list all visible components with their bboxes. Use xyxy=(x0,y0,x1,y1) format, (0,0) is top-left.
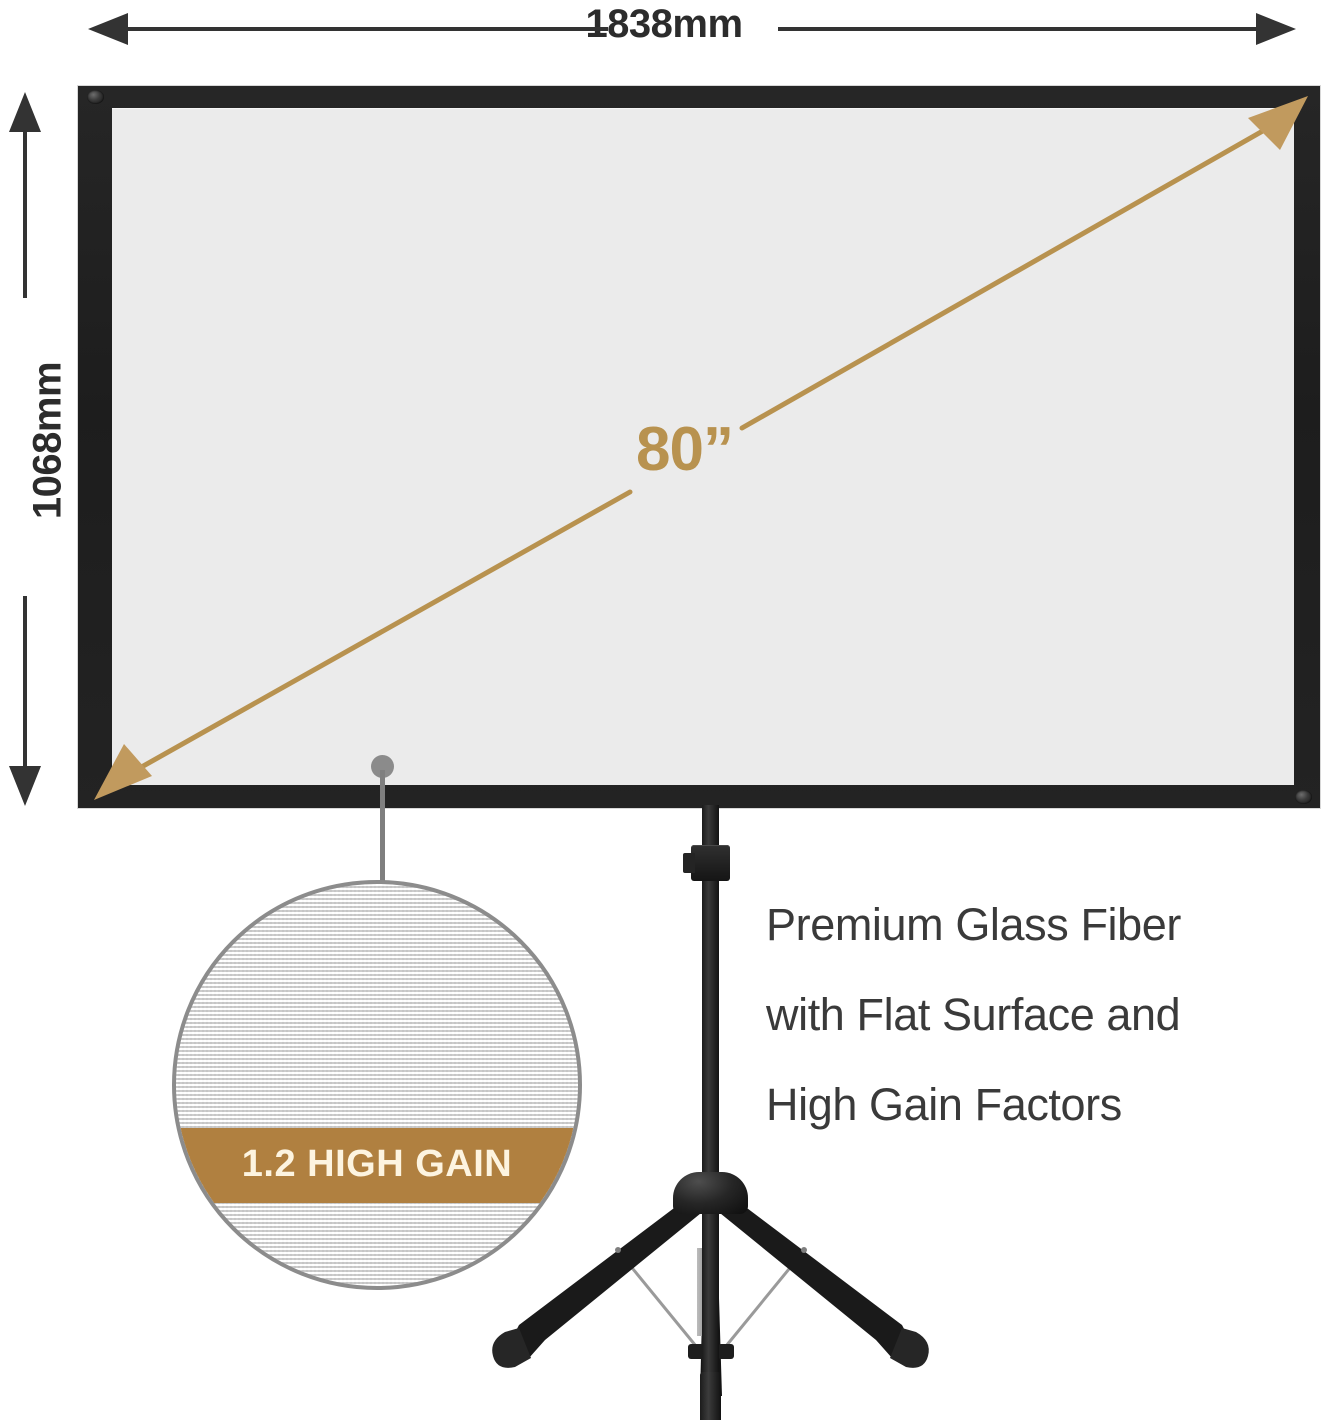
tripod-legs xyxy=(0,0,1328,1420)
feature-line-2: with Flat Surface and xyxy=(766,970,1322,1060)
clamp-knob-icon xyxy=(683,853,695,873)
tripod-stand xyxy=(0,0,1328,1420)
product-dimension-diagram: 1838mm 1068mm 80” 1.2 HIGH xyxy=(0,0,1328,1420)
feature-line-3: High Gain Factors xyxy=(766,1060,1322,1150)
feature-line-1: Premium Glass Fiber xyxy=(766,880,1322,970)
stand-pole-tip xyxy=(700,1372,721,1420)
tripod-hub xyxy=(673,1172,748,1214)
height-adjust-clamp xyxy=(691,845,730,881)
feature-description: Premium Glass Fiber with Flat Surface an… xyxy=(766,880,1322,1150)
